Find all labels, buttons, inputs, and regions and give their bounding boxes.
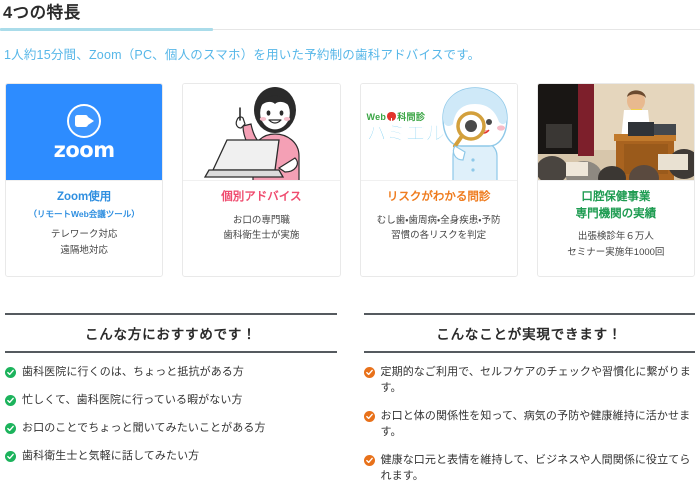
card-title: 口腔保健事業 専門機関の実績: [544, 189, 688, 222]
panel-item-list: 歯科医院に行くのは、ちょっと抵抗がある方 忙しくて、歯科医院に行っている暇がない…: [5, 365, 337, 465]
tooth-icon: [387, 112, 396, 121]
card-description-line-1: 出張検診年６万人: [544, 229, 688, 244]
panel-title: こんな方におすすめです！: [85, 327, 257, 342]
list-item: お口と体の関係性を知って、病気の予防や健康維持に活かせます。: [364, 409, 696, 441]
underline-accent: [0, 28, 213, 31]
hamieru-logo-top-line: Web 科問診: [367, 110, 445, 123]
panel-item-list: 定期的なご利用で、セルフケアのチェックや習慣化に繋がります。 お口と体の関係性を…: [364, 365, 696, 491]
card-body-track-record: 口腔保健事業 専門機関の実績 出張検診年６万人 セミナー実施年1000回: [538, 181, 694, 276]
lead-text: 1人約15分間、Zoom（PC、個人のスマホ）を用いた予約制の歯科アドバイスです…: [4, 46, 480, 65]
list-item-label: お口のことでちょっと聞いてみたいことがある方: [22, 421, 266, 437]
feature-card-questionnaire[interactable]: Web 科問診 ハミエル リスクがわかる問診 むし歯・歯周病・全身疾患・予防 習…: [360, 83, 518, 277]
list-item: 歯科医院に行くのは、ちょっと抵抗がある方: [5, 365, 337, 381]
card-media-questionnaire: Web 科問診 ハミエル: [361, 84, 517, 181]
card-title-line-2: 専門機関の実績: [544, 206, 688, 223]
list-item: お口のことでちょっと聞いてみたいことがある方: [5, 421, 337, 437]
check-circle-icon: [364, 367, 375, 378]
card-body-zoom: Zoom使用 （リモートWeb会議ツール） テレワーク対応 遠隔地対応: [6, 181, 162, 276]
card-description-line-2: 歯科衛生士が実施: [189, 228, 333, 243]
list-item-label: 定期的なご利用で、セルフケアのチェックや習慣化に繋がります。: [381, 365, 696, 397]
page-title: 4つの特長: [0, 0, 700, 28]
hamieru-character-icon: Web 科問診 ハミエル: [361, 84, 517, 180]
section-header: 4つの特長: [0, 0, 700, 32]
card-description: テレワーク対応 遠隔地対応: [12, 227, 156, 257]
list-item-label: 歯科医院に行くのは、ちょっと抵抗がある方: [22, 365, 244, 381]
hamieru-logo: Web 科問診 ハミエル: [367, 110, 445, 144]
video-camera-icon: [67, 104, 101, 138]
card-description: 出張検診年６万人 セミナー実施年1000回: [544, 229, 688, 259]
card-description-line-2: セミナー実施年1000回: [544, 245, 688, 260]
hamieru-logo-rest-text: 科問診: [397, 110, 425, 123]
card-body-questionnaire: リスクがわかる問診 むし歯・歯周病・全身疾患・予防 習慣の各リスクを判定: [361, 181, 517, 276]
feature-card-advice[interactable]: 個別アドバイス お口の専門職 歯科衛生士が実施: [182, 83, 340, 277]
benefit-panels: こんな方におすすめです！ 歯科医院に行くのは、ちょっと抵抗がある方 忙しくて、歯…: [0, 313, 700, 491]
list-item: 定期的なご利用で、セルフケアのチェックや習慣化に繋がります。: [364, 365, 696, 397]
card-description-line-2: 習慣の各リスクを判定: [367, 228, 511, 243]
list-item-label: お口と体の関係性を知って、病気の予防や健康維持に活かせます。: [381, 409, 696, 441]
panel-title: こんなことが実現できます！: [436, 327, 622, 342]
feature-card-zoom[interactable]: zoom Zoom使用 （リモートWeb会議ツール） テレワーク対応 遠隔地対応: [5, 83, 163, 277]
card-title: リスクがわかる問診: [367, 189, 511, 206]
card-title: Zoom使用: [12, 189, 156, 206]
card-description-line-2: 遠隔地対応: [12, 243, 156, 258]
woman-with-laptop-illustration-icon: [183, 84, 339, 180]
card-description-line-1: むし歯・歯周病・全身疾患・予防: [367, 213, 511, 228]
list-item-label: 忙しくて、歯科医院に行っている暇がない方: [22, 393, 243, 409]
card-media-zoom: zoom: [6, 84, 162, 181]
card-title: 個別アドバイス: [189, 189, 333, 206]
card-media-track-record: [538, 84, 694, 181]
zoom-logo-icon: zoom: [6, 84, 162, 180]
title-underline: [0, 28, 700, 32]
card-description: お口の専門職 歯科衛生士が実施: [189, 213, 333, 243]
list-item-label: 健康な口元と表情を維持して、ビジネスや人間関係に役立てられます。: [381, 453, 696, 485]
check-circle-icon: [5, 451, 16, 462]
hamieru-logo-name: ハミエル: [367, 124, 445, 144]
feature-card-track-record[interactable]: 口腔保健事業 専門機関の実績 出張検診年６万人 セミナー実施年1000回: [537, 83, 695, 277]
check-circle-icon: [5, 423, 16, 434]
panel-header: こんな方におすすめです！: [5, 313, 337, 353]
card-description: むし歯・歯周病・全身疾患・予防 習慣の各リスクを判定: [367, 213, 511, 243]
zoom-wordmark: zoom: [54, 140, 115, 161]
panel-recommended-for: こんな方におすすめです！ 歯科医院に行くのは、ちょっと抵抗がある方 忙しくて、歯…: [5, 313, 337, 491]
card-description-line-1: テレワーク対応: [12, 227, 156, 242]
panel-header: こんなことが実現できます！: [364, 313, 696, 353]
check-circle-icon: [5, 367, 16, 378]
card-media-advice: [183, 84, 339, 181]
panel-achievable: こんなことが実現できます！ 定期的なご利用で、セルフケアのチェックや習慣化に繋が…: [364, 313, 696, 491]
feature-page: 4つの特長 1人約15分間、Zoom（PC、個人のスマホ）を用いた予約制の歯科ア…: [0, 0, 700, 491]
check-circle-icon: [5, 395, 16, 406]
list-item: 健康な口元と表情を維持して、ビジネスや人間関係に役立てられます。: [364, 453, 696, 485]
card-description-line-1: お口の専門職: [189, 213, 333, 228]
card-title-line-1: 口腔保健事業: [544, 189, 688, 206]
seminar-photo-image: [538, 84, 694, 180]
feature-card-list: zoom Zoom使用 （リモートWeb会議ツール） テレワーク対応 遠隔地対応: [0, 83, 700, 277]
card-body-advice: 個別アドバイス お口の専門職 歯科衛生士が実施: [183, 181, 339, 276]
check-circle-icon: [364, 411, 375, 422]
check-circle-icon: [364, 455, 375, 466]
list-item: 歯科衛生士と気軽に話してみたい方: [5, 449, 337, 465]
list-item-label: 歯科衛生士と気軽に話してみたい方: [22, 449, 199, 465]
card-subtitle: （リモートWeb会議ツール）: [12, 208, 156, 221]
list-item: 忙しくて、歯科医院に行っている暇がない方: [5, 393, 337, 409]
hamieru-logo-web-text: Web: [367, 112, 387, 122]
